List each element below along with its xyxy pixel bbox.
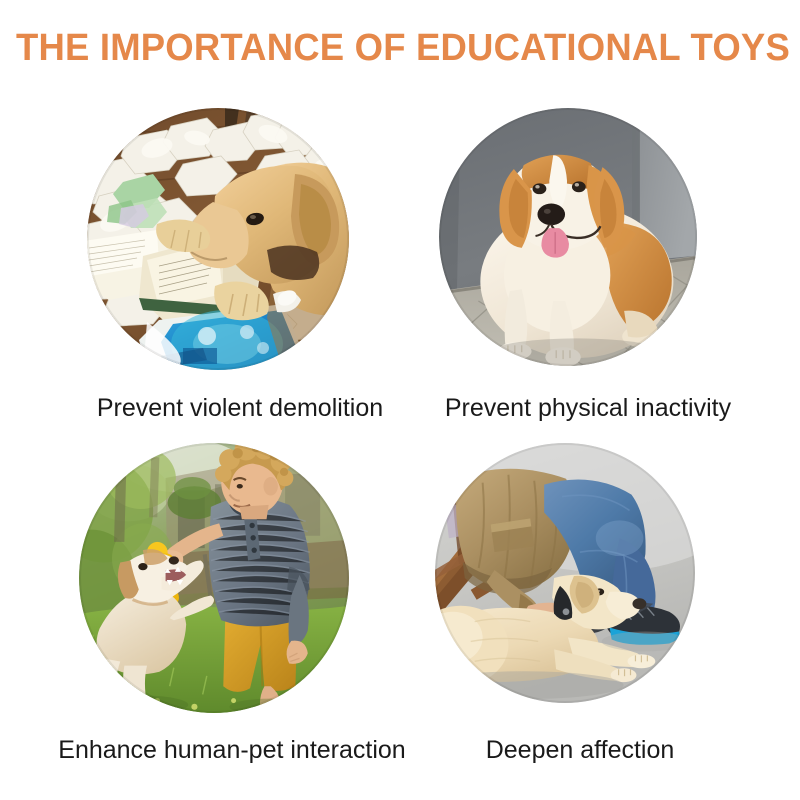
feature-cell-deepen-affection: Deepen affection (420, 443, 720, 773)
dog-shredding-paper-photo (87, 108, 349, 370)
caption-enhance-human-pet-interaction: Enhance human-pet interaction (42, 735, 422, 765)
caption-prevent-physical-inactivity: Prevent physical inactivity (398, 393, 778, 423)
caption-prevent-violent-demolition: Prevent violent demolition (50, 393, 430, 423)
poster-root: THE IMPORTANCE OF EDUCATIONAL TOYS (0, 0, 800, 800)
feature-cell-enhance-human-pet-interaction: Enhance human-pet interaction (90, 443, 390, 773)
caption-deepen-affection: Deepen affection (390, 735, 770, 765)
person-petting-labrador-photo (435, 443, 695, 703)
page-title: THE IMPORTANCE OF EDUCATIONAL TOYS (16, 26, 784, 70)
feature-cell-prevent-violent-demolition: Prevent violent demolition (90, 108, 390, 428)
boy-playing-with-dog-photo (79, 443, 349, 713)
feature-cell-prevent-physical-inactivity: Prevent physical inactivity (420, 108, 720, 428)
overweight-beagle-photo (439, 108, 697, 366)
